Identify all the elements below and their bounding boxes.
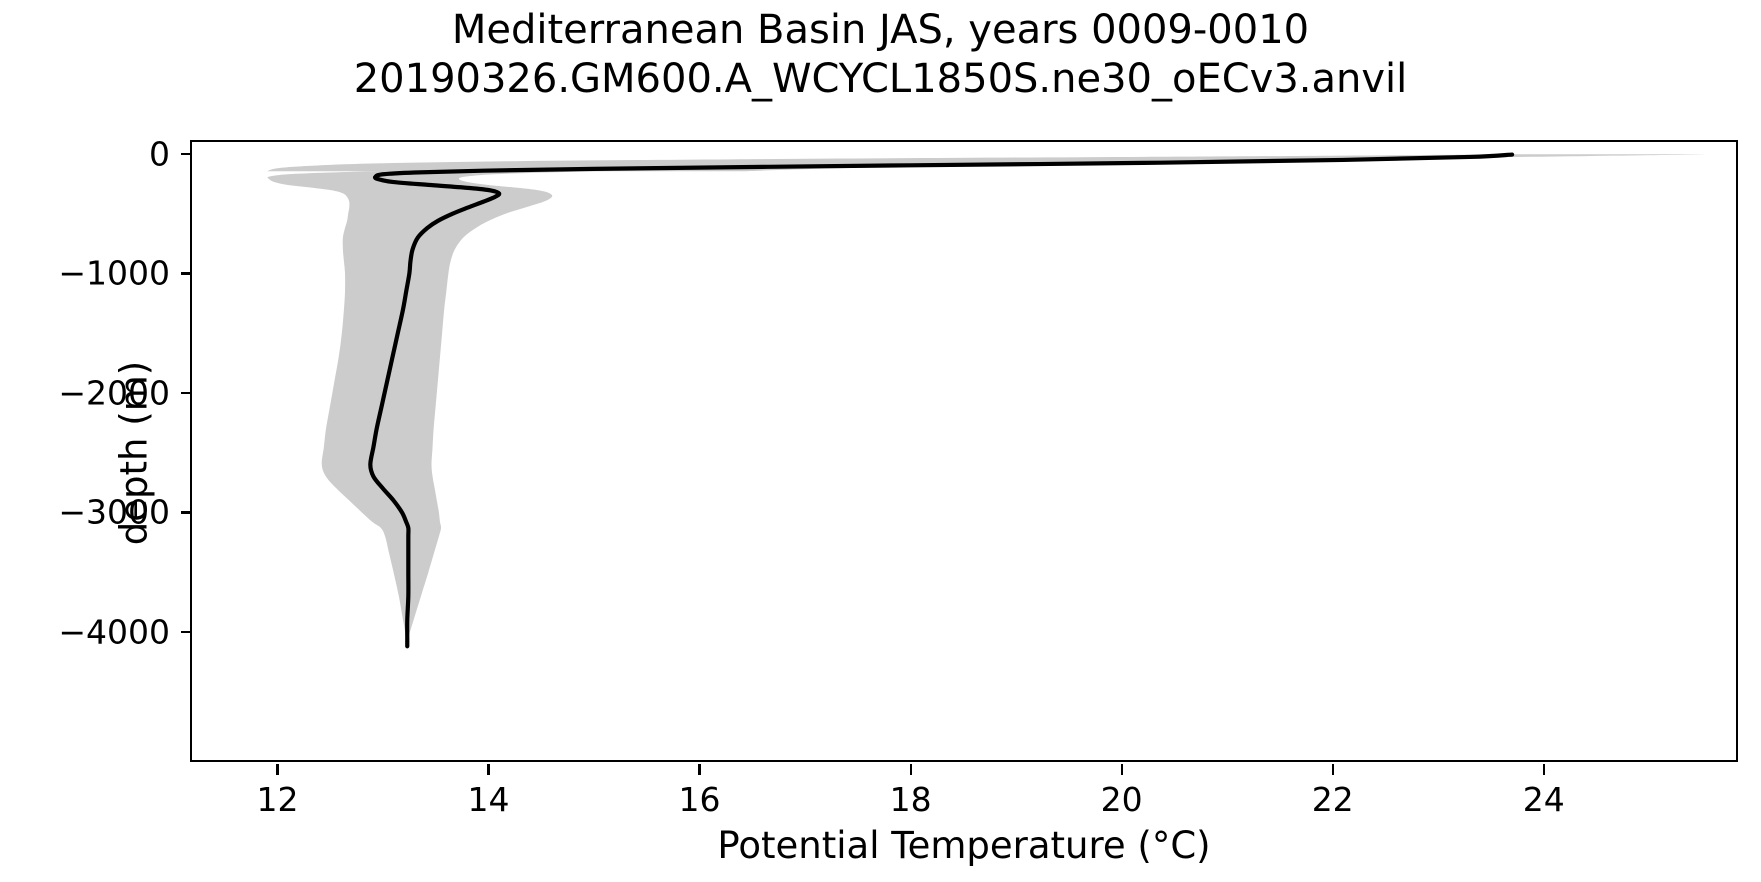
ytick-mark (181, 511, 192, 513)
xtick-mark (276, 764, 278, 775)
xtick-label: 18 (890, 780, 932, 819)
ytick-label: −1000 (58, 254, 170, 293)
plot-area: 12 14 16 18 20 22 24 0 (190, 140, 1738, 762)
xtick-mark (910, 764, 912, 775)
ytick-label: 0 (149, 134, 170, 173)
uncertainty-band-group (267, 155, 1522, 647)
xtick-label: 14 (468, 780, 510, 819)
uncertainty-band (267, 155, 1522, 647)
xtick-mark (487, 764, 489, 775)
xtick-label: 12 (256, 780, 298, 819)
ytick-mark (181, 392, 192, 394)
ytick-mark (181, 153, 192, 155)
xtick-label: 16 (679, 780, 721, 819)
xtick-mark (1543, 764, 1545, 775)
x-axis-label: Potential Temperature (°C) (717, 824, 1210, 867)
xtick-label: 24 (1523, 780, 1565, 819)
xtick-mark (1332, 764, 1334, 775)
y-axis-label: depth (m) (113, 361, 156, 545)
xtick-mark (698, 764, 700, 775)
figure-root: Mediterranean Basin JAS, years 0009-0010… (0, 0, 1761, 882)
mean-profile-group (370, 155, 1512, 647)
xtick-mark (1121, 764, 1123, 775)
plot-canvas (192, 142, 1740, 764)
ytick-label: −4000 (58, 612, 170, 651)
xtick-label: 20 (1101, 780, 1143, 819)
ytick-mark (181, 272, 192, 274)
mean-profile-line (370, 155, 1512, 647)
ytick-mark (181, 631, 192, 633)
chart-title: Mediterranean Basin JAS, years 0009-0010… (0, 6, 1761, 104)
xtick-label: 22 (1312, 780, 1354, 819)
